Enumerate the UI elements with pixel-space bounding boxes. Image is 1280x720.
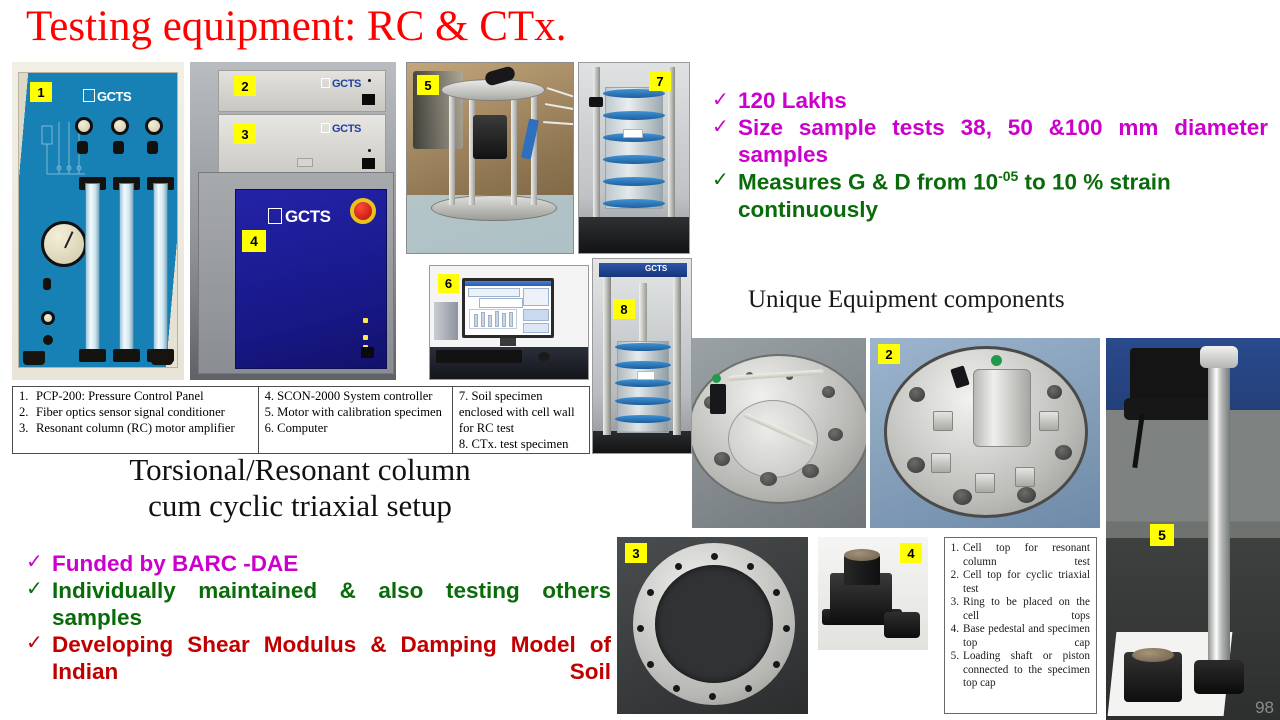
legend-number: 2. [948,569,963,596]
chart-bar [474,314,478,327]
bullet-item-measures-gd: ✓ Measures G & D from 10-05 to 10 % stra… [712,168,1268,223]
check-icon: ✓ [26,550,52,575]
legend-number: 4. [948,623,963,650]
green-fitting-icon [991,355,1002,366]
bullet-text: Funded by BARC -DAE [52,550,611,577]
shaft-top-knob [1200,346,1238,368]
legend-row: 4. Base pedestal and specimen top cap [948,623,1090,650]
tube-cap-bot-1 [79,349,106,362]
legend-number: 2. [19,404,36,420]
legend-text: Soil specimen enclosed with cell wall fo… [459,389,575,435]
app-chart-area [469,309,517,329]
legend-text: Fiber optics sensor signal conditioner [36,405,225,419]
bullet-exponent: -05 [998,168,1018,184]
bolt-hole [760,472,777,486]
photo-ctx-test-specimen: GCTS 8 [592,258,692,454]
ctx-band-2 [615,361,671,369]
monitor-screen [465,281,551,335]
photo-cell-top-cyclic-triaxial: 2 [870,338,1100,528]
monitor-stand [500,338,516,346]
panel-gauge-2 [111,117,129,135]
bolt-hole [802,464,819,478]
gcts-brand-8: GCTS [645,264,667,273]
burette-tube-3 [153,183,168,351]
ctx-band-1 [615,343,671,351]
unit-b-led [368,149,371,152]
slide-canvas: Testing equipment: RC & CTx. GCTS [0,0,1280,720]
acrylic-cell-wall [605,87,663,209]
soil-specimen-b5 [1132,648,1174,662]
panel-knob-4 [43,335,53,345]
photo-badge-b5: 5 [1150,524,1174,546]
bullet-text: Individually maintained & also testing o… [52,577,611,631]
hex-nut [1015,467,1035,487]
cell-top-disk-ctx [884,346,1088,518]
cabinet-foot-right [151,351,173,365]
gcts-brand-1: GCTS [97,89,131,104]
legend-number: 1. [948,542,963,569]
legend-row: 2. Cell top for cyclic triaxial test [948,569,1090,596]
page-title: Testing equipment: RC & CTx. [26,2,566,51]
photo-controller-stack: GCTS GCTS GCTS 2 3 4 [190,62,396,380]
photo-badge-3: 3 [234,124,256,144]
gcts-logo-mark-4 [268,208,282,224]
photo-badge-8: 8 [613,299,635,319]
legend-text: CTx. test specimen [471,437,568,451]
ring-bolt-hole [773,661,780,668]
photo-badge-1: 1 [30,82,52,102]
cell-band-2 [603,111,665,120]
legend-row: 2.Fiber optics sensor signal conditioner [19,404,253,420]
ctx-frame-crosshead [599,263,687,277]
cell-band-5 [603,177,665,186]
chart-bar [495,311,499,327]
scon-port [361,347,374,358]
legend-number: 8. [459,437,468,451]
center-bushing-hub [973,369,1031,447]
setup-heading: Torsional/Resonant column cum cyclic tri… [40,452,560,524]
legend-row: 1. Cell top for resonant column test [948,542,1090,569]
bolt-hole [822,386,835,398]
tube-cap-bot-2 [113,349,140,362]
legend-row: 3.Resonant column (RC) motor amplifier [19,420,253,436]
ring-bolt-hole [673,685,680,692]
mouse [538,352,550,361]
ctx-band-3 [615,379,671,387]
setup-heading-line-1: Torsional/Resonant column [40,452,560,488]
legend-row: 6. Computer [265,420,447,436]
legend-text: Cell top for cyclic triaxial test [963,569,1090,596]
burette-tube-2 [119,183,134,351]
bullet-text: Size sample tests 38, 50 &100 mm diamete… [738,115,1268,169]
check-icon: ✓ [26,631,52,656]
specimen-top-cap [884,612,920,638]
panel-knob-2 [113,141,124,154]
legend-text: Base pedestal and specimen top cap [963,623,1090,650]
legend-text: Loading shaft or piston connected to the… [963,650,1090,691]
legend-number: 5. [948,650,963,691]
photo-badge-2: 2 [234,76,256,96]
cell-label-sticker [623,129,643,138]
page-number: 98 [1255,698,1274,718]
tie-rod-3 [511,93,517,205]
photo-badge-b3: 3 [625,543,647,563]
photo-loading-shaft-piston: 5 [1106,338,1280,720]
hex-nut [933,411,953,431]
ring-bolt-hole [711,553,718,560]
legend-text: Motor with calibration specimen [277,405,442,419]
app-control-box-1 [523,309,549,321]
legend-row: 1.PCP-200: Pressure Control Panel [19,388,253,404]
legend-text: Cell top for resonant column test [963,542,1090,569]
bullet-item-developing-model: ✓ Developing Shear Modulus & Damping Mod… [26,631,611,685]
legend-number: 7. [459,389,468,403]
unit-a-port [362,94,375,105]
unit-a-led [368,79,371,82]
unit-b-switch [297,158,313,167]
legend-row: 5. Loading shaft or piston connected to … [948,650,1090,691]
ring-bolt-hole [783,625,790,632]
unique-equipment-heading: Unique Equipment components [748,286,1065,314]
keyboard [436,350,522,363]
photo-motor-calibration-specimen: 5 [406,62,574,254]
loading-shaft [1208,352,1230,674]
chart-bar [481,312,485,327]
cell-band-6 [603,199,665,208]
ring-bolt-hole [745,685,752,692]
shaft-bottom-fitting [1194,660,1244,694]
ring-bolt-hole [675,563,682,570]
panel-cabinet: GCTS [18,72,178,368]
soil-specimen-surface [844,549,880,561]
legend-number: 6. [265,421,274,435]
legend-row: 8. CTx. test specimen [459,436,584,452]
bolt-hole [909,387,925,402]
ring-bolt-hole [637,625,644,632]
legend-number: 3. [19,420,36,436]
status-led-1 [363,318,368,323]
bolt-hole [953,489,972,505]
bullet-item-sample-size: ✓ Size sample tests 38, 50 &100 mm diame… [712,115,1268,169]
rc-motor-assembly [473,115,507,159]
valve-block [710,384,726,414]
tie-rod-1 [449,93,455,205]
bullet-item-individually-maintained: ✓ Individually maintained & also testing… [26,577,611,631]
check-icon: ✓ [712,88,738,113]
burette-tube-1 [85,183,100,351]
panel-selector-lever [43,278,51,290]
chart-bar [488,315,492,327]
bolt-hole [907,457,925,473]
scon-2000-front-panel: GCTS [235,189,387,369]
bullet-text: 120 Lakhs [738,88,1268,115]
app-toolbar [468,288,520,297]
photo-badge-b4: 4 [900,543,922,563]
legend-number: 5. [265,405,274,419]
bullet-list-specs: ✓ 120 Lakhs ✓ Size sample tests 38, 50 &… [712,88,1268,223]
ctx-band-4 [615,397,671,405]
photo-badge-b2: 2 [878,344,900,364]
computer-tower [434,302,458,340]
photo-cell-top-ring: 3 [617,537,808,714]
legend-number: 4. [265,389,274,403]
panel-knob-3 [147,141,158,154]
photo-rc-specimen-cell: 7 [578,62,690,254]
bullet-item-120-lakhs: ✓ 120 Lakhs [712,88,1268,115]
load-frame-post-left [593,67,600,217]
legend-cell-3: 7. Soil specimen enclosed with cell wall… [452,387,589,453]
photo-badge-7: 7 [649,71,671,91]
check-icon: ✓ [712,168,738,193]
legend-text: SCON-2000 System controller [277,389,432,403]
bullet-text: Measures G & D from 10-05 to 10 % strain… [738,168,1268,223]
hex-nut [975,473,995,493]
ctx-band-5 [615,415,671,423]
status-led-2 [363,335,368,340]
legend-number: 3. [948,596,963,623]
bolt-hole [714,452,730,466]
photo-computer: 6 [429,265,589,380]
panel-gauge-4 [41,311,55,325]
ring-bolt-hole [773,589,780,596]
legend-row: 5. Motor with calibration specimen [265,404,447,420]
bolt-hole [1047,385,1062,399]
legend-number: 1. [19,388,36,404]
ring-bolt-hole [647,661,654,668]
bullet-text-pre: Measures G & D from 10 [738,170,998,195]
cabinet-foot-left [23,351,45,365]
unit-b-port [362,158,375,169]
photo-pressure-control-panel: GCTS [12,62,184,380]
gcts-logo-mark-2 [321,78,330,88]
legend-cell-2: 4. SCON-2000 System controller 5. Motor … [258,387,452,453]
setup-heading-line-2: cum cyclic triaxial setup [40,488,560,524]
legend-table-equipment: 1.PCP-200: Pressure Control Panel 2.Fibe… [12,386,590,454]
ctx-frame-post-right [673,275,681,435]
reaction-floor-7 [579,217,689,253]
legend-text: Ring to be placed on the cell tops [963,596,1090,623]
ctx-cell-sticker [637,371,655,380]
ctx-frame-post-left [603,275,611,435]
app-side-panel [523,288,549,306]
app-dialog [479,298,523,308]
bullet-text: Developing Shear Modulus & Damping Model… [52,631,611,685]
legend-text: PCP-200: Pressure Control Panel [36,389,204,403]
panel-gauge-3 [145,117,163,135]
legend-table-components: 1. Cell top for resonant column test 2. … [944,537,1097,714]
gcts-logo-mark-3 [321,123,330,133]
cell-band-4 [603,155,665,164]
app-control-box-2 [523,323,549,333]
gcts-logo-mark-1 [83,89,95,102]
bolt-hole [1055,445,1072,460]
panel-knob-1 [77,141,88,154]
legend-text: Resonant column (RC) motor amplifier [36,421,235,435]
photo-badge-4: 4 [242,230,266,252]
ring-opening [655,565,773,683]
legend-row: 3. Ring to be placed on the cell tops [948,596,1090,623]
hex-nut [1039,411,1059,431]
photo-cell-top-resonant-column [692,338,866,528]
panel-gauge-1 [75,117,93,135]
ring-bolt-hole [747,563,754,570]
photo-base-pedestal-top-cap: 4 [818,537,928,650]
ring-bolt-hole [709,693,716,700]
bullet-list-funding: ✓ Funded by BARC -DAE ✓ Individually mai… [26,550,611,685]
photo-badge-6: 6 [438,274,459,293]
app-titlebar [465,281,551,286]
bullet-item-funded-barc: ✓ Funded by BARC -DAE [26,550,611,577]
chart-bar [509,312,513,327]
bolt-hole [1017,487,1036,503]
panel-main-gauge [41,221,87,267]
legend-row: 4. SCON-2000 System controller [265,388,447,404]
legend-row: 7. Soil specimen enclosed with cell wall… [459,388,584,436]
photo-badge-5: 5 [417,75,439,95]
legend-text: Computer [277,421,327,435]
ring-bolt-hole [647,589,654,596]
hex-nut [931,453,951,473]
legend-cell-1: 1.PCP-200: Pressure Control Panel 2.Fibe… [13,387,258,453]
scon-2000-tower: GCTS [198,172,394,374]
cell-valve-fitting [589,97,603,107]
top-valve-block [950,365,969,388]
green-fitting-icon [712,374,721,383]
chart-bar [502,313,506,327]
ctx-loading-shaft [639,283,647,345]
bolt-hole [828,428,843,441]
check-icon: ✓ [26,577,52,602]
check-icon: ✓ [712,115,738,140]
emergency-stop-button[interactable] [350,198,376,224]
